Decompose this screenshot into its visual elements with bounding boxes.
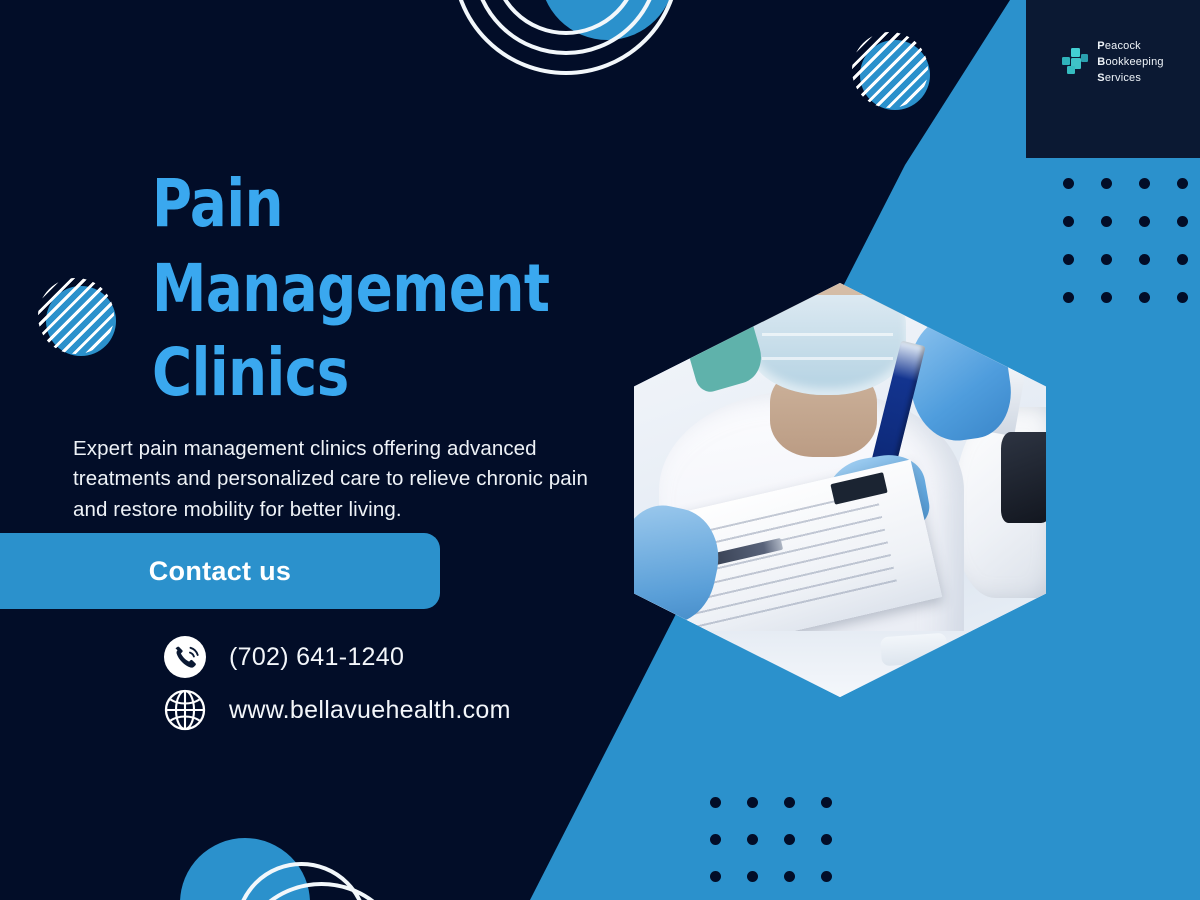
phone-contact-row[interactable]: (702) 641-1240: [163, 635, 404, 679]
grid-dot: [784, 797, 795, 808]
grid-dot: [784, 871, 795, 882]
grid-dot: [1139, 254, 1150, 265]
promotional-poster: Peacock Bookkeeping Services: [0, 0, 1200, 900]
dot-grid-right: [1063, 178, 1193, 308]
page-title: Pain Management Clinics: [152, 162, 630, 415]
striped-circle-decoration-left: [38, 278, 128, 368]
hexagon-image-frame: [634, 283, 1046, 697]
concentric-rings-bottom: [160, 820, 420, 900]
grid-dot: [1101, 292, 1112, 303]
globe-icon: [163, 688, 207, 732]
grid-dot: [1101, 178, 1112, 189]
brand-logo-text: Peacock Bookkeeping Services: [1097, 39, 1163, 87]
lab-technician-photo: [634, 283, 1046, 697]
phone-call-icon: [163, 635, 207, 679]
grid-dot: [1139, 216, 1150, 227]
grid-dot: [1177, 254, 1188, 265]
grid-dot: [1177, 178, 1188, 189]
grid-dot: [1177, 216, 1188, 227]
grid-dot: [1063, 216, 1074, 227]
dot-grid-bottom: [710, 797, 840, 900]
striped-circle-decoration-right: [852, 32, 942, 122]
diagonal-stripes: [38, 278, 114, 354]
ring-outer: [452, 0, 680, 75]
grid-dot: [821, 834, 832, 845]
logo-line-2: Bookkeeping: [1097, 55, 1163, 71]
grid-dot: [710, 871, 721, 882]
grid-dot: [1101, 216, 1112, 227]
microscope-dark-part: [1001, 432, 1046, 523]
grid-dot: [1177, 292, 1188, 303]
grid-dot: [1063, 178, 1074, 189]
grid-dot: [747, 797, 758, 808]
phone-number: (702) 641-1240: [229, 643, 404, 672]
grid-dot: [1101, 254, 1112, 265]
surgical-mask: [749, 295, 906, 394]
grid-dot: [1063, 254, 1074, 265]
grid-dot: [1139, 178, 1150, 189]
desk-surface: [634, 631, 1046, 697]
contact-us-button[interactable]: Contact us: [0, 533, 440, 609]
brand-logo-box: Peacock Bookkeeping Services: [1026, 0, 1200, 158]
grid-dot: [821, 797, 832, 808]
grid-dot: [821, 871, 832, 882]
grid-dot: [1063, 292, 1074, 303]
grid-dot: [784, 834, 795, 845]
logo-line-3: Services: [1097, 71, 1163, 87]
grid-dot: [747, 871, 758, 882]
logo-line-1: Peacock: [1097, 39, 1163, 55]
lab-vial: [880, 633, 948, 666]
peacock-blocks-icon: [1062, 48, 1088, 78]
grid-dot: [747, 834, 758, 845]
description-text: Expert pain management clinics offering …: [73, 434, 618, 526]
concentric-rings-top: [440, 0, 700, 125]
grid-dot: [1139, 292, 1150, 303]
website-url: www.bellavuehealth.com: [229, 696, 511, 725]
grid-dot: [710, 797, 721, 808]
diagonal-stripes: [852, 32, 928, 108]
brand-logo: Peacock Bookkeeping Services: [1062, 39, 1163, 87]
grid-dot: [710, 834, 721, 845]
website-contact-row[interactable]: www.bellavuehealth.com: [163, 688, 511, 732]
